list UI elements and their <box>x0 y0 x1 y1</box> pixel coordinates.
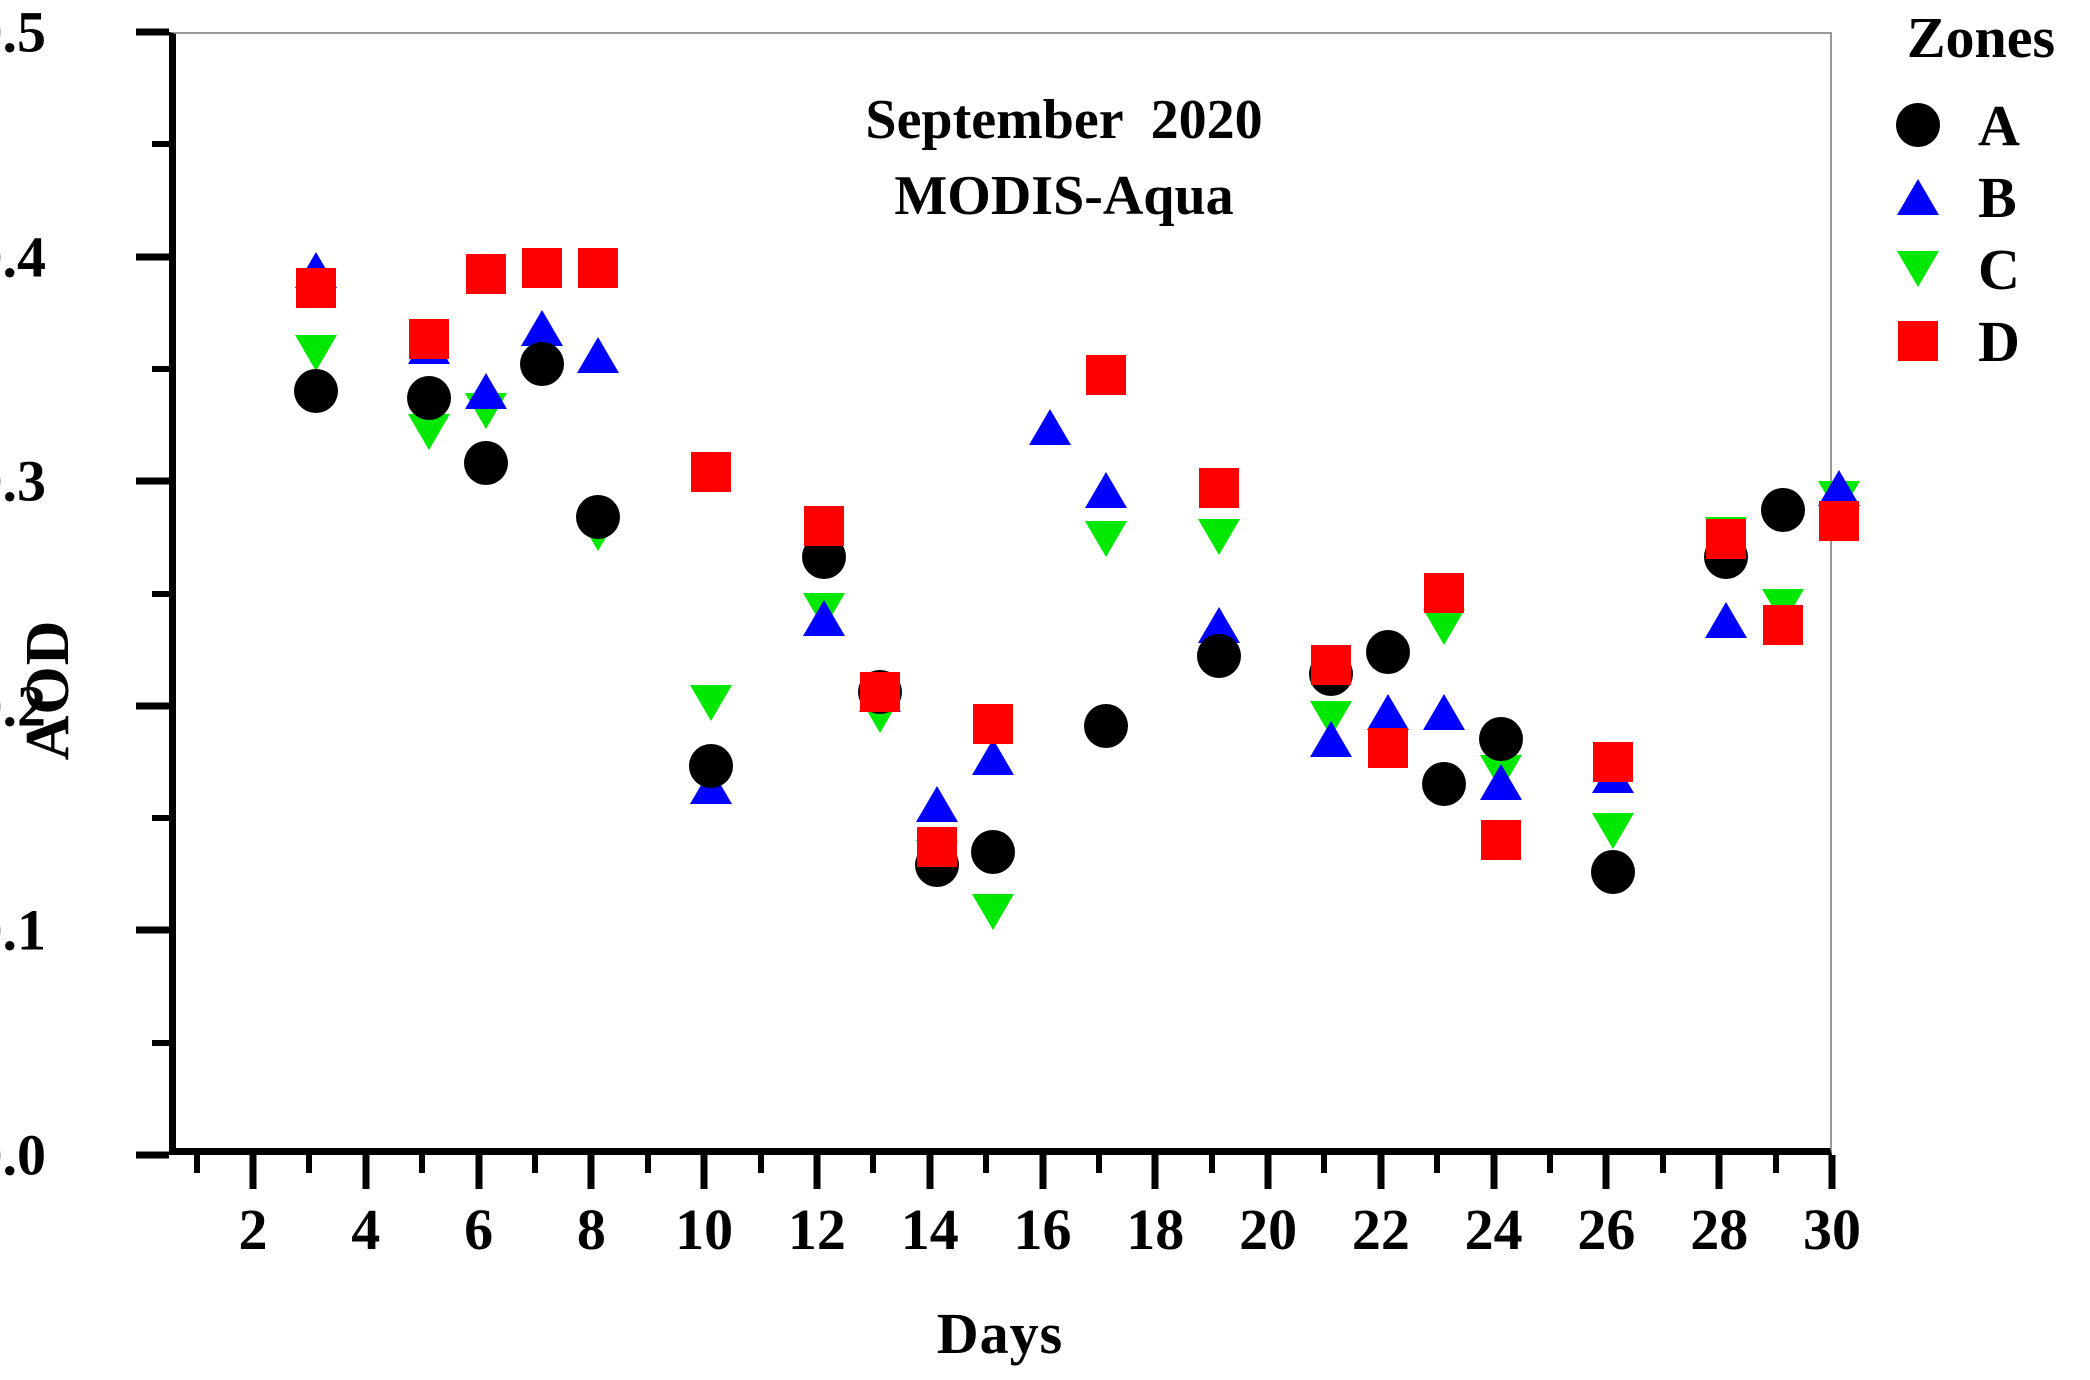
data-point-zone-a <box>1084 704 1128 748</box>
data-point-zone-b <box>1029 409 1071 445</box>
x-tick-minor <box>532 1155 538 1173</box>
x-tick-major <box>1265 1155 1272 1189</box>
data-point-zone-d <box>973 704 1013 744</box>
data-point-zone-a <box>1591 850 1635 894</box>
y-tick-minor <box>152 141 169 147</box>
y-tick-minor <box>152 815 169 821</box>
data-point-zone-b <box>1085 472 1127 508</box>
x-tick-major <box>1152 1155 1159 1189</box>
x-tick-major <box>1603 1155 1610 1189</box>
data-point-zone-b <box>1592 757 1634 793</box>
data-point-zone-b <box>1198 607 1240 643</box>
data-point-zone-b <box>577 337 619 373</box>
data-point-zone-b <box>1480 764 1522 800</box>
data-point-zone-c <box>916 840 958 876</box>
data-point-zone-d <box>296 268 336 308</box>
data-point-zone-c <box>1480 755 1522 791</box>
data-point-zone-a <box>1704 535 1748 579</box>
legend-item-a[interactable]: A <box>1872 89 2090 161</box>
x-tick-minor <box>870 1155 876 1173</box>
plot-area: September 2020 MODIS-Aqua <box>169 32 1832 1155</box>
data-point-zone-a <box>1366 630 1410 674</box>
data-point-zone-a <box>1197 634 1241 678</box>
y-tick-label: 0.4 <box>0 223 46 290</box>
y-tick-label: 0.2 <box>0 672 46 739</box>
legend-item-c[interactable]: C <box>1872 233 2090 305</box>
data-point-zone-b <box>295 252 337 288</box>
y-tick-minor <box>152 366 169 372</box>
legend-label: C <box>1964 236 2020 303</box>
legend: Zones ABCD <box>1872 4 2090 377</box>
data-point-zone-b <box>1423 694 1465 730</box>
x-tick-minor <box>1434 1155 1440 1173</box>
legend-label: A <box>1964 92 2020 159</box>
y-tick-label: 0.5 <box>0 0 46 66</box>
legend-item-d[interactable]: D <box>1872 305 2090 377</box>
y-tick-major <box>136 702 169 709</box>
data-point-zone-a <box>520 342 564 386</box>
data-point-zone-a <box>1761 488 1805 532</box>
x-tick-minor <box>983 1155 989 1173</box>
y-tick-label: 0.0 <box>0 1122 46 1189</box>
data-point-zone-b <box>521 310 563 346</box>
data-point-zone-d <box>860 672 900 712</box>
x-axis-label: Days <box>150 1300 1850 1367</box>
data-point-zone-c <box>1423 609 1465 645</box>
x-tick-minor <box>1660 1155 1666 1173</box>
data-point-zone-d <box>578 248 618 288</box>
data-point-zone-c <box>1762 589 1804 625</box>
circle-icon <box>1872 103 1964 147</box>
x-tick-minor <box>306 1155 312 1173</box>
x-tick-major <box>475 1155 482 1189</box>
y-tick-major <box>136 253 169 260</box>
x-tick-minor <box>1096 1155 1102 1173</box>
data-point-zone-d <box>1819 501 1859 541</box>
legend-label: D <box>1964 308 2020 375</box>
data-point-zone-a <box>1422 762 1466 806</box>
x-tick-minor <box>1547 1155 1553 1173</box>
data-point-zone-d <box>1311 645 1351 685</box>
data-point-zone-b <box>1818 470 1860 506</box>
x-tick-major <box>1829 1155 1836 1189</box>
data-point-zone-d <box>1086 355 1126 395</box>
data-point-zone-c <box>408 414 450 450</box>
data-point-zone-c <box>1310 701 1352 737</box>
x-tick-major <box>701 1155 708 1189</box>
data-point-zone-c <box>1818 481 1860 517</box>
x-tick-major <box>1716 1155 1723 1189</box>
data-point-zone-c <box>690 685 732 721</box>
x-tick-minor <box>1209 1155 1215 1173</box>
x-tick-minor <box>645 1155 651 1173</box>
x-tick-minor <box>1321 1155 1327 1173</box>
data-point-zone-d <box>1481 820 1521 860</box>
data-point-zone-c <box>295 335 337 371</box>
data-point-zone-b <box>803 600 845 636</box>
x-tick-minor <box>758 1155 764 1173</box>
y-tick-label: 0.1 <box>0 897 46 964</box>
x-tick-major <box>588 1155 595 1189</box>
x-tick-label: 30 <box>1752 1196 1912 1263</box>
data-point-zone-a <box>407 376 451 420</box>
data-point-zone-a <box>464 441 508 485</box>
x-tick-minor <box>1773 1155 1779 1173</box>
data-point-zone-c <box>1085 521 1127 557</box>
chart-subtitle: MODIS-Aqua <box>894 164 1233 228</box>
y-tick-major <box>136 29 169 36</box>
triangle-up-icon <box>1872 179 1964 215</box>
y-tick-major <box>136 1152 169 1159</box>
data-point-zone-b <box>1367 694 1409 730</box>
x-tick-major <box>362 1155 369 1189</box>
x-tick-minor <box>194 1155 200 1173</box>
y-tick-minor <box>152 1040 169 1046</box>
data-point-zone-c <box>803 593 845 629</box>
data-point-zone-d <box>917 827 957 867</box>
data-point-zone-a <box>294 369 338 413</box>
data-point-zone-d <box>1368 728 1408 768</box>
square-icon <box>1872 321 1964 361</box>
data-point-zone-a <box>1479 717 1523 761</box>
data-point-zone-b <box>465 373 507 409</box>
data-point-zone-a <box>858 670 902 714</box>
data-point-zone-d <box>1593 742 1633 782</box>
triangle-down-icon <box>1872 251 1964 287</box>
data-point-zone-d <box>1763 605 1803 645</box>
x-tick-major <box>250 1155 257 1189</box>
data-point-zone-b <box>408 328 450 364</box>
data-point-zone-c <box>1705 517 1747 553</box>
data-point-zone-d <box>1199 468 1239 508</box>
x-tick-major <box>1490 1155 1497 1189</box>
legend-item-b[interactable]: B <box>1872 161 2090 233</box>
x-tick-major <box>1039 1155 1046 1189</box>
data-point-zone-d <box>466 254 506 294</box>
legend-rows: ABCD <box>1872 89 2090 377</box>
y-tick-label: 0.3 <box>0 448 46 515</box>
data-point-zone-b <box>916 786 958 822</box>
data-point-zone-a <box>1309 652 1353 696</box>
chart-title: September 2020 <box>865 88 1262 152</box>
data-point-zone-d <box>409 319 449 359</box>
data-point-zone-d <box>691 452 731 492</box>
data-point-zone-d <box>804 506 844 546</box>
chart-figure: AOD Days 0.00.10.20.30.40.5 246810121416… <box>0 0 2090 1380</box>
data-point-zone-b <box>1705 602 1747 638</box>
x-tick-major <box>926 1155 933 1189</box>
data-point-zone-c <box>972 894 1014 930</box>
data-point-zone-a <box>689 744 733 788</box>
data-point-zone-a <box>971 830 1015 874</box>
legend-title: Zones <box>1872 4 2090 71</box>
data-point-zone-c <box>859 697 901 733</box>
data-point-zone-b <box>859 676 901 712</box>
data-point-zone-d <box>1706 519 1746 559</box>
x-tick-minor <box>419 1155 425 1173</box>
data-point-zone-c <box>577 515 619 551</box>
y-tick-major <box>136 478 169 485</box>
x-tick-major <box>813 1155 820 1189</box>
x-tick-major <box>1377 1155 1384 1189</box>
data-point-zone-c <box>1198 519 1240 555</box>
data-point-zone-b <box>690 768 732 804</box>
data-point-zone-b <box>1310 721 1352 757</box>
y-tick-minor <box>152 591 169 597</box>
data-point-zone-c <box>1592 813 1634 849</box>
data-point-zone-d <box>1424 573 1464 613</box>
data-point-zone-d <box>522 248 562 288</box>
legend-label: B <box>1964 164 2017 231</box>
data-point-zone-a <box>915 843 959 887</box>
data-point-zone-c <box>465 393 507 429</box>
data-point-zone-b <box>972 739 1014 775</box>
data-point-zone-a <box>802 535 846 579</box>
data-point-zone-a <box>576 495 620 539</box>
y-tick-major <box>136 927 169 934</box>
